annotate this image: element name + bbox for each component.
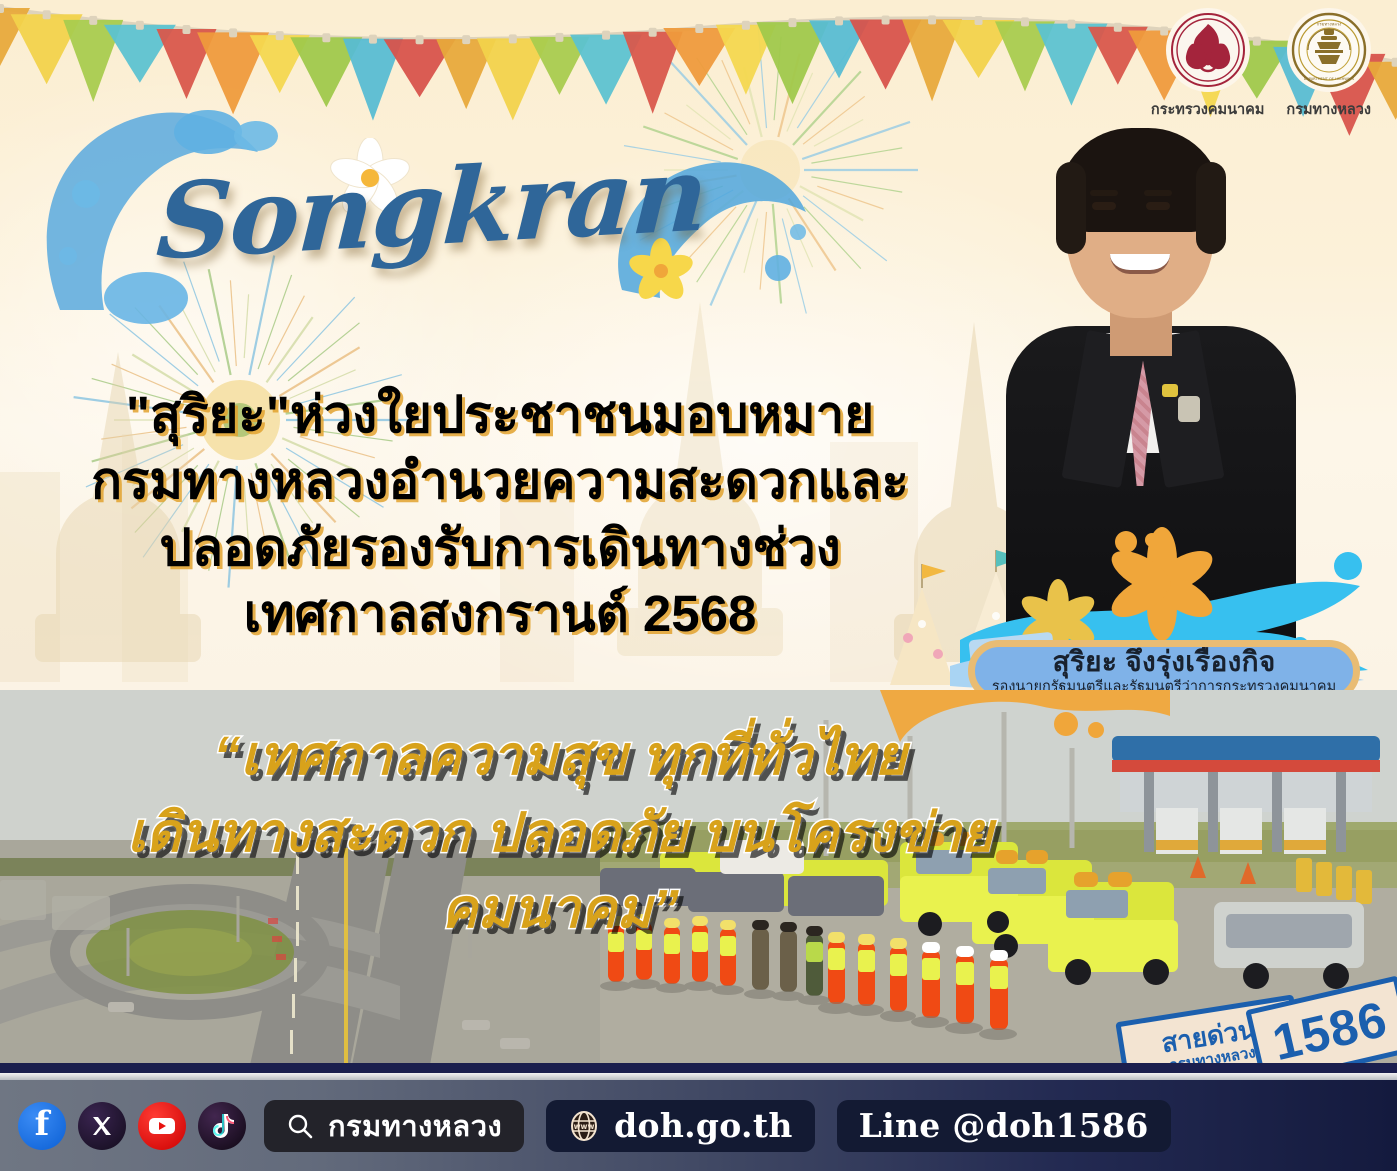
tiktok-icon[interactable] [198,1102,246,1150]
logo-label-ministry: กระทรวงคมนาคม [1151,98,1265,121]
quote-line-2: เดินทางสะดวก ปลอดภัย บนโครงข่าย [60,795,1060,872]
headline: "สุริยะ"ห่วงใยประชาชนมอบหมาย กรมทางหลวงอ… [40,382,960,647]
svg-text:www: www [574,1122,595,1131]
toll-plaza [1112,736,1380,854]
website-label: doh.go.th [614,1106,793,1145]
portrait-hair-side-right [1196,162,1226,254]
search-box[interactable]: กรมทางหลวง [264,1100,524,1152]
logo-label-highways: กรมทางหลวง [1286,98,1371,121]
minister-name: สุริยะ จึงรุ่งเรืองกิจ [1052,648,1275,676]
globe-www-icon: www [568,1110,600,1142]
footer-divider [0,1073,1397,1080]
facebook-icon[interactable]: f [18,1102,66,1150]
portrait-brow-left [1090,190,1118,196]
portrait-pin-gold [1162,384,1178,397]
agency-logos: กระทรวงคมนาคม [1151,8,1371,121]
portrait-eye-right [1146,202,1170,210]
portrait-brow-right [1144,190,1172,196]
logo-ministry-of-transport: กระทรวงคมนาคม [1151,8,1265,121]
headline-line-4: เทศกาลสงกรานต์ 2568 [40,581,960,647]
portrait-hair-side-left [1056,162,1086,254]
campaign-quote: “เทศกาลความสุข ทุกที่ทั่วไทย เดินทางสะดว… [60,718,1060,948]
svg-text:DEPARTMENT OF HIGHWAYS: DEPARTMENT OF HIGHWAYS [1303,77,1354,81]
footer-navy-strip [0,1063,1397,1073]
department-of-highways-emblem: กรมทางหลวง DEPARTMENT OF HIGHWAYS [1287,8,1371,92]
headline-line-3: ปลอดภัยรองรับการเดินทางช่วง [40,515,960,581]
footer-bar: f กรมทางหลวง [0,1080,1397,1171]
line-label: Line @doh1586 [859,1106,1149,1145]
logo-department-of-highways: กรมทางหลวง DEPARTMENT OF HIGHWAYS กรมทาง… [1286,8,1371,121]
youtube-icon[interactable] [138,1102,186,1150]
songkran-wordmark: Songkran [60,118,760,333]
quote-line-1: “เทศกาลความสุข ทุกที่ทั่วไทย [60,718,1060,795]
hotline-number: 1586 [1268,994,1392,1069]
songkran-wordmark-text: Songkran [154,132,709,283]
quote-line-3: คมนาคม” [60,871,1060,948]
portrait-pin-badge [1178,396,1200,422]
svg-text:กรมทางหลวง: กรมทางหลวง [1316,22,1340,27]
line-account[interactable]: Line @doh1586 [837,1100,1171,1152]
x-twitter-icon[interactable] [78,1102,126,1150]
website-link[interactable]: www doh.go.th [546,1100,815,1152]
headline-line-2: กรมทางหลวงอำนวยความสะดวกและ [40,448,960,514]
portrait-eye-left [1092,202,1116,210]
headline-line-1: "สุริยะ"ห่วงใยประชาชนมอบหมาย [40,382,960,448]
ministry-of-transport-emblem [1166,8,1250,92]
songkran-campaign-poster: Songkran "สุริยะ"ห่วงใยประชาชนมอบหมาย กร… [0,0,1397,1171]
search-label: กรมทางหลวง [328,1103,502,1149]
search-icon [286,1112,314,1140]
